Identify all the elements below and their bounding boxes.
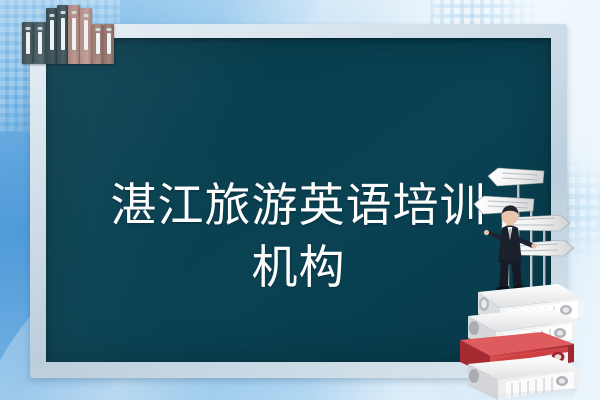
binder-2: [34, 22, 46, 64]
title-line-2: 机构: [252, 236, 346, 298]
binder-3: [46, 8, 57, 64]
binder-stack-icon: [460, 284, 584, 400]
banner-image: 湛江旅游英语培训 机构: [0, 0, 600, 400]
businessman-on-binders-illustration: [452, 158, 600, 400]
binder-6: [80, 8, 92, 64]
binder-5: [68, 5, 80, 64]
binder-8: [103, 24, 114, 64]
title-line-1: 湛江旅游英语培训: [111, 174, 487, 236]
binder-4: [57, 5, 68, 64]
binder-row-icon: [6, 0, 102, 64]
binder-1: [22, 22, 34, 64]
binder-7: [92, 24, 103, 64]
